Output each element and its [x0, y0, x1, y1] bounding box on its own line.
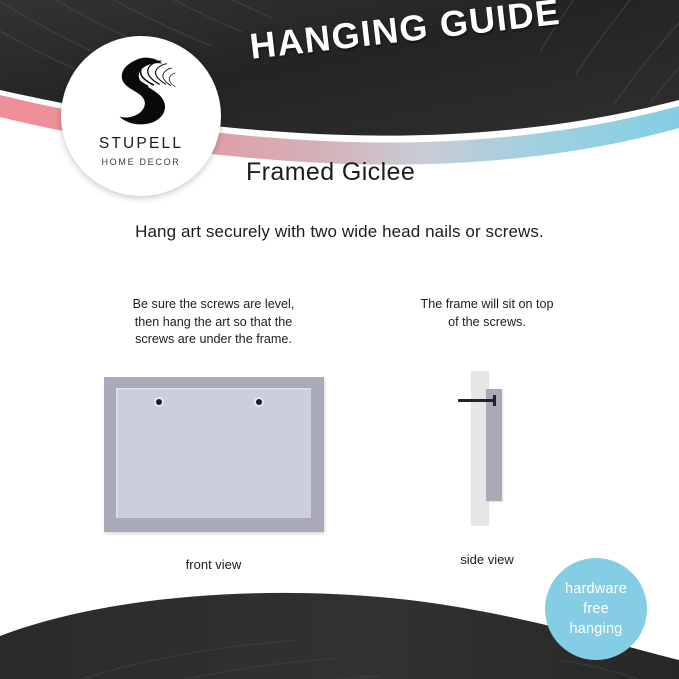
stupell-logo-badge: STUPELL HOME DECOR — [61, 36, 221, 196]
logo-tagline: HOME DECOR — [101, 157, 180, 167]
screw-dot-right-icon — [256, 399, 262, 405]
hanging-guide-page: STUPELL HOME DECOR HANGING GUIDE Framed … — [0, 0, 679, 679]
hardware-free-hanging-badge: hardware free hanging — [545, 558, 647, 660]
front-view-label: front view — [72, 557, 355, 572]
side-view-panel: The frame will sit on top of the screws.… — [380, 296, 594, 567]
stupell-swoosh-icon — [98, 52, 184, 134]
product-type-heading: Framed Giclee — [246, 158, 415, 187]
badge-line-1: hardware — [565, 580, 627, 599]
screw-dot-left-icon — [156, 399, 162, 405]
side-view-caption: The frame will sit on top of the screws. — [380, 296, 594, 331]
front-view-caption: Be sure the screws are level, then hang … — [72, 296, 355, 349]
logo-wordmark: STUPELL — [99, 135, 183, 153]
side-view-label: side view — [380, 552, 594, 567]
front-view-art-mat — [116, 388, 311, 518]
front-view-diagram — [104, 377, 324, 532]
side-view-diagram — [380, 371, 594, 526]
side-view-screw-shaft-icon — [458, 399, 496, 402]
badge-line-2: free — [583, 600, 609, 619]
page-title: HANGING GUIDE — [248, 0, 563, 68]
front-view-panel: Be sure the screws are level, then hang … — [72, 296, 355, 572]
side-view-screw-head-icon — [493, 395, 496, 406]
badge-line-3: hanging — [569, 620, 622, 639]
intro-instruction: Hang art securely with two wide head nai… — [0, 222, 679, 242]
